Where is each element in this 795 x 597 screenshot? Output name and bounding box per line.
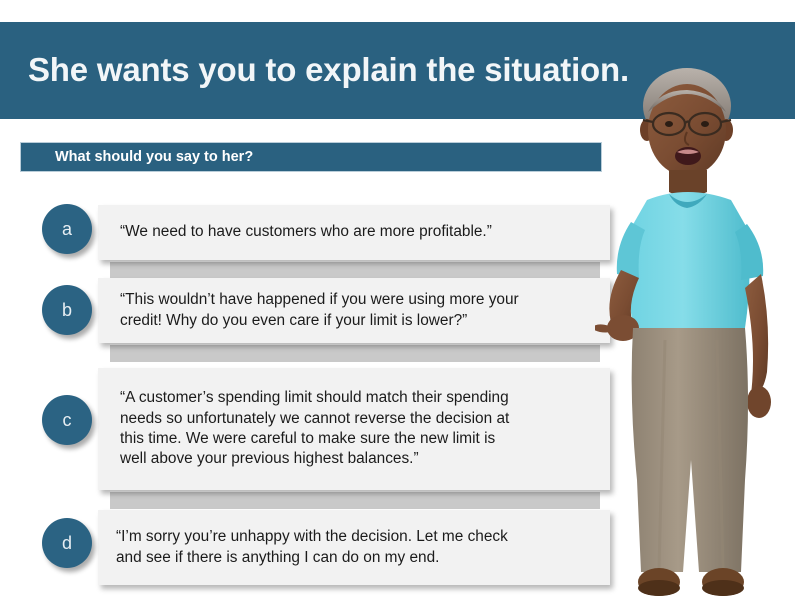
question-prompt: What should you say to her? xyxy=(55,149,253,165)
option-c-text: “A customer’s spending limit should matc… xyxy=(98,388,519,470)
option-d-bubble[interactable]: d xyxy=(42,518,92,568)
option-c-card[interactable]: “A customer’s spending limit should matc… xyxy=(98,368,610,490)
option-b-text: “This wouldn’t have happened if you were… xyxy=(98,290,529,331)
question-bar: What should you say to her? xyxy=(20,142,602,172)
option-b-backplate xyxy=(110,345,600,362)
option-a-bubble[interactable]: a xyxy=(42,204,92,254)
option-c-letter: c xyxy=(63,411,72,429)
option-d-card[interactable]: “I’m sorry you’re unhappy with the decis… xyxy=(98,510,610,585)
option-a-letter: a xyxy=(62,220,72,238)
option-c-backplate xyxy=(110,492,600,509)
option-b-card[interactable]: “This wouldn’t have happened if you were… xyxy=(98,278,610,343)
page-title: She wants you to explain the situation. xyxy=(28,51,629,89)
woman-speaking-photo xyxy=(595,60,795,597)
title-banner: She wants you to explain the situation. xyxy=(0,22,795,119)
option-b-bubble[interactable]: b xyxy=(42,285,92,335)
option-d-text: “I’m sorry you’re unhappy with the decis… xyxy=(98,527,518,568)
option-d-letter: d xyxy=(62,534,72,552)
option-b-letter: b xyxy=(62,301,72,319)
option-a-backplate xyxy=(110,262,600,279)
option-a-text: “We need to have customers who are more … xyxy=(98,222,502,242)
option-c-bubble[interactable]: c xyxy=(42,395,92,445)
option-a-card[interactable]: “We need to have customers who are more … xyxy=(98,205,610,260)
